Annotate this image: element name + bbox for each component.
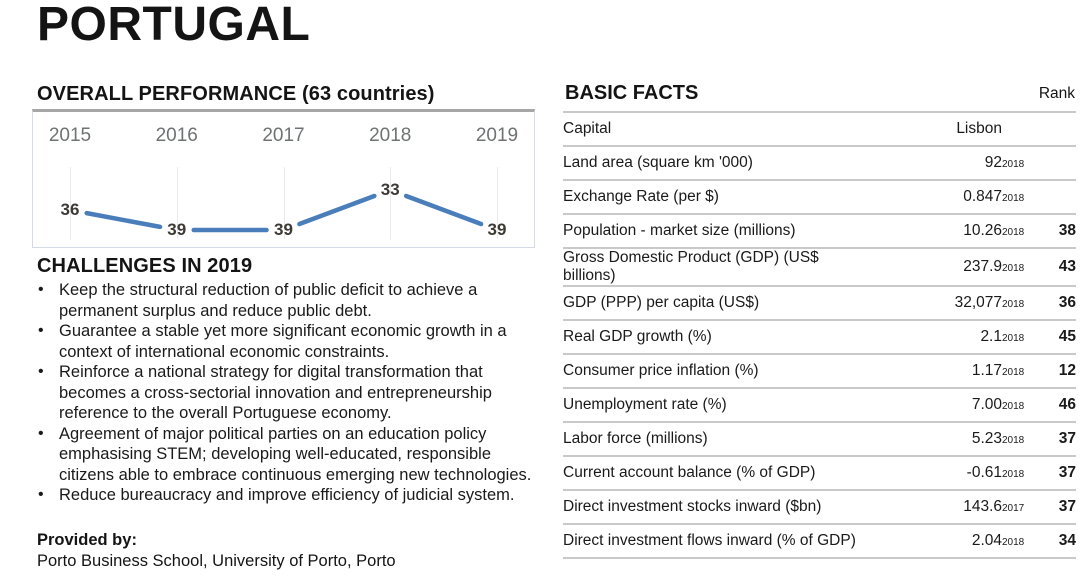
fact-label: Capital	[563, 112, 870, 146]
challenges-list: •Keep the structural reduction of public…	[30, 280, 550, 506]
basic-facts-table: CapitalLisbonLand area (square km '000)9…	[563, 111, 1076, 559]
fact-year-text: 2018	[1002, 223, 1024, 240]
fact-label: Labor force (millions)	[563, 422, 870, 456]
fact-rank: 46	[1036, 388, 1076, 422]
fact-value: 92	[870, 146, 1002, 180]
table-row: Unemployment rate (%)7.00201846	[563, 388, 1076, 422]
bullet-icon: •	[38, 424, 44, 445]
overall-performance-country-count: (63 countries)	[302, 83, 435, 105]
fact-rank: 43	[1036, 248, 1076, 286]
fact-rank: 37	[1036, 456, 1076, 490]
fact-value: 32,077	[870, 286, 1002, 320]
fact-year-text: 2018	[1002, 295, 1024, 312]
challenge-text: Reduce bureaucracy and improve efficienc…	[59, 486, 515, 504]
fact-rank	[1036, 112, 1076, 146]
fact-rank: 12	[1036, 354, 1076, 388]
right-column: BASIC FACTS Rank CapitalLisbonLand area …	[552, 0, 1086, 587]
fact-rank	[1036, 146, 1076, 180]
fact-year-superscript: 2018	[1002, 388, 1036, 422]
table-row: Land area (square km '000)922018	[563, 146, 1076, 180]
fact-value: 1.17	[870, 354, 1002, 388]
bullet-icon: •	[38, 280, 44, 301]
fact-year-text: 2017	[1002, 499, 1024, 516]
challenge-text: Reinforce a national strategy for digita…	[59, 363, 492, 422]
bullet-icon: •	[38, 362, 44, 383]
list-item: •Reduce bureaucracy and improve efficien…	[30, 485, 550, 506]
fact-year-superscript: 2018	[1002, 248, 1036, 286]
chart-x-tick-label: 2018	[369, 125, 411, 147]
table-row: Direct investment stocks inward ($bn)143…	[563, 490, 1076, 524]
fact-value: -0.61	[870, 456, 1002, 490]
table-row: Consumer price inflation (%)1.17201812	[563, 354, 1076, 388]
fact-label: Direct investment stocks inward ($bn)	[563, 490, 870, 524]
table-row: Gross Domestic Product (GDP) (US$ billio…	[563, 248, 1076, 286]
fact-year-text: 2018	[1002, 155, 1024, 172]
table-row: GDP (PPP) per capita (US$)32,077201836	[563, 286, 1076, 320]
fact-year-superscript: 2018	[1002, 180, 1036, 214]
chart-x-tick-label: 2015	[49, 125, 91, 147]
fact-rank: 45	[1036, 320, 1076, 354]
fact-year-text: 2018	[1002, 465, 1024, 482]
table-row: Population - market size (millions)10.26…	[563, 214, 1076, 248]
fact-year-text: 2018	[1002, 397, 1024, 414]
chart-line-segment	[87, 213, 160, 227]
fact-year-text: 2018	[1002, 189, 1024, 206]
fact-label: Real GDP growth (%)	[563, 320, 870, 354]
challenge-text: Guarantee a stable yet more significant …	[59, 322, 507, 361]
table-row: Direct investment flows inward (% of GDP…	[563, 524, 1076, 558]
list-item: •Keep the structural reduction of public…	[30, 280, 550, 321]
fact-value: 5.23	[870, 422, 1002, 456]
challenge-text: Agreement of major political parties on …	[59, 425, 531, 484]
list-item: •Guarantee a stable yet more significant…	[30, 321, 550, 362]
provided-by-block: Provided by: Porto Business School, Univ…	[37, 530, 396, 572]
fact-value: 7.00	[870, 388, 1002, 422]
overall-performance-chart: 201520162017201820193639393339	[32, 109, 535, 248]
fact-year-superscript: 2018	[1002, 286, 1036, 320]
fact-year-superscript: 2018	[1002, 422, 1036, 456]
table-row: Real GDP growth (%)2.1201845	[563, 320, 1076, 354]
left-column: OVERALL PERFORMANCE (63 countries) 20152…	[0, 0, 552, 587]
fact-year-text: 2018	[1002, 533, 1024, 550]
fact-label: Exchange Rate (per $)	[563, 180, 870, 214]
bullet-icon: •	[38, 485, 44, 506]
basic-facts-heading: BASIC FACTS	[565, 82, 698, 105]
fact-year-superscript	[1002, 112, 1036, 146]
fact-rank: 37	[1036, 490, 1076, 524]
chart-line-segment	[406, 196, 481, 224]
fact-rank: 38	[1036, 214, 1076, 248]
fact-label: GDP (PPP) per capita (US$)	[563, 286, 870, 320]
fact-label: Population - market size (millions)	[563, 214, 870, 248]
fact-year-superscript: 2018	[1002, 456, 1036, 490]
challenges-heading: CHALLENGES IN 2019	[37, 255, 252, 278]
fact-value: 2.1	[870, 320, 1002, 354]
fact-year-text: 2018	[1002, 259, 1024, 276]
fact-value: Lisbon	[870, 112, 1002, 146]
chart-data-label: 39	[274, 220, 293, 240]
chart-x-tick-label: 2016	[156, 125, 198, 147]
fact-year-superscript: 2018	[1002, 146, 1036, 180]
fact-label: Direct investment flows inward (% of GDP…	[563, 524, 870, 558]
list-item: •Agreement of major political parties on…	[30, 424, 550, 486]
chart-x-tick-label: 2017	[262, 125, 304, 147]
fact-year-text: 2018	[1002, 431, 1024, 448]
table-row: CapitalLisbon	[563, 112, 1076, 146]
overall-performance-heading: OVERALL PERFORMANCE (63 countries)	[37, 83, 435, 106]
bullet-icon: •	[38, 321, 44, 342]
fact-year-superscript: 2017	[1002, 490, 1036, 524]
chart-plot-area: 201520162017201820193639393339	[33, 112, 534, 247]
fact-label: Land area (square km '000)	[563, 146, 870, 180]
basic-facts-rank-header: Rank	[1039, 85, 1075, 103]
fact-year-superscript: 2018	[1002, 320, 1036, 354]
chart-gridline	[390, 167, 391, 239]
fact-value: 237.9	[870, 248, 1002, 286]
fact-label: Gross Domestic Product (GDP) (US$ billio…	[563, 248, 870, 286]
fact-label: Consumer price inflation (%)	[563, 354, 870, 388]
fact-rank: 37	[1036, 422, 1076, 456]
chart-data-label: 39	[488, 220, 507, 240]
overall-performance-title: OVERALL PERFORMANCE	[37, 83, 296, 105]
fact-label: Current account balance (% of GDP)	[563, 456, 870, 490]
table-row: Labor force (millions)5.23201837	[563, 422, 1076, 456]
provided-by-organisation: Porto Business School, University of Por…	[37, 551, 396, 572]
fact-year-text: 2018	[1002, 329, 1024, 346]
fact-year-superscript: 2018	[1002, 524, 1036, 558]
fact-rank	[1036, 180, 1076, 214]
fact-value: 2.04	[870, 524, 1002, 558]
fact-year-superscript: 2018	[1002, 354, 1036, 388]
chart-data-label: 39	[167, 220, 186, 240]
fact-year-superscript: 2018	[1002, 214, 1036, 248]
table-row: Exchange Rate (per $)0.8472018	[563, 180, 1076, 214]
table-row: Current account balance (% of GDP)-0.612…	[563, 456, 1076, 490]
chart-data-label: 36	[61, 200, 80, 220]
provided-by-label: Provided by:	[37, 530, 396, 551]
chart-data-label: 33	[381, 180, 400, 200]
fact-value: 143.6	[870, 490, 1002, 524]
fact-label: Unemployment rate (%)	[563, 388, 870, 422]
fact-value: 10.26	[870, 214, 1002, 248]
fact-value: 0.847	[870, 180, 1002, 214]
challenge-text: Keep the structural reduction of public …	[59, 281, 477, 320]
fact-year-text: 2018	[1002, 363, 1024, 380]
list-item: •Reinforce a national strategy for digit…	[30, 362, 550, 424]
fact-rank: 34	[1036, 524, 1076, 558]
fact-rank: 36	[1036, 286, 1076, 320]
chart-x-tick-label: 2019	[476, 125, 518, 147]
chart-line-segment	[299, 196, 374, 224]
